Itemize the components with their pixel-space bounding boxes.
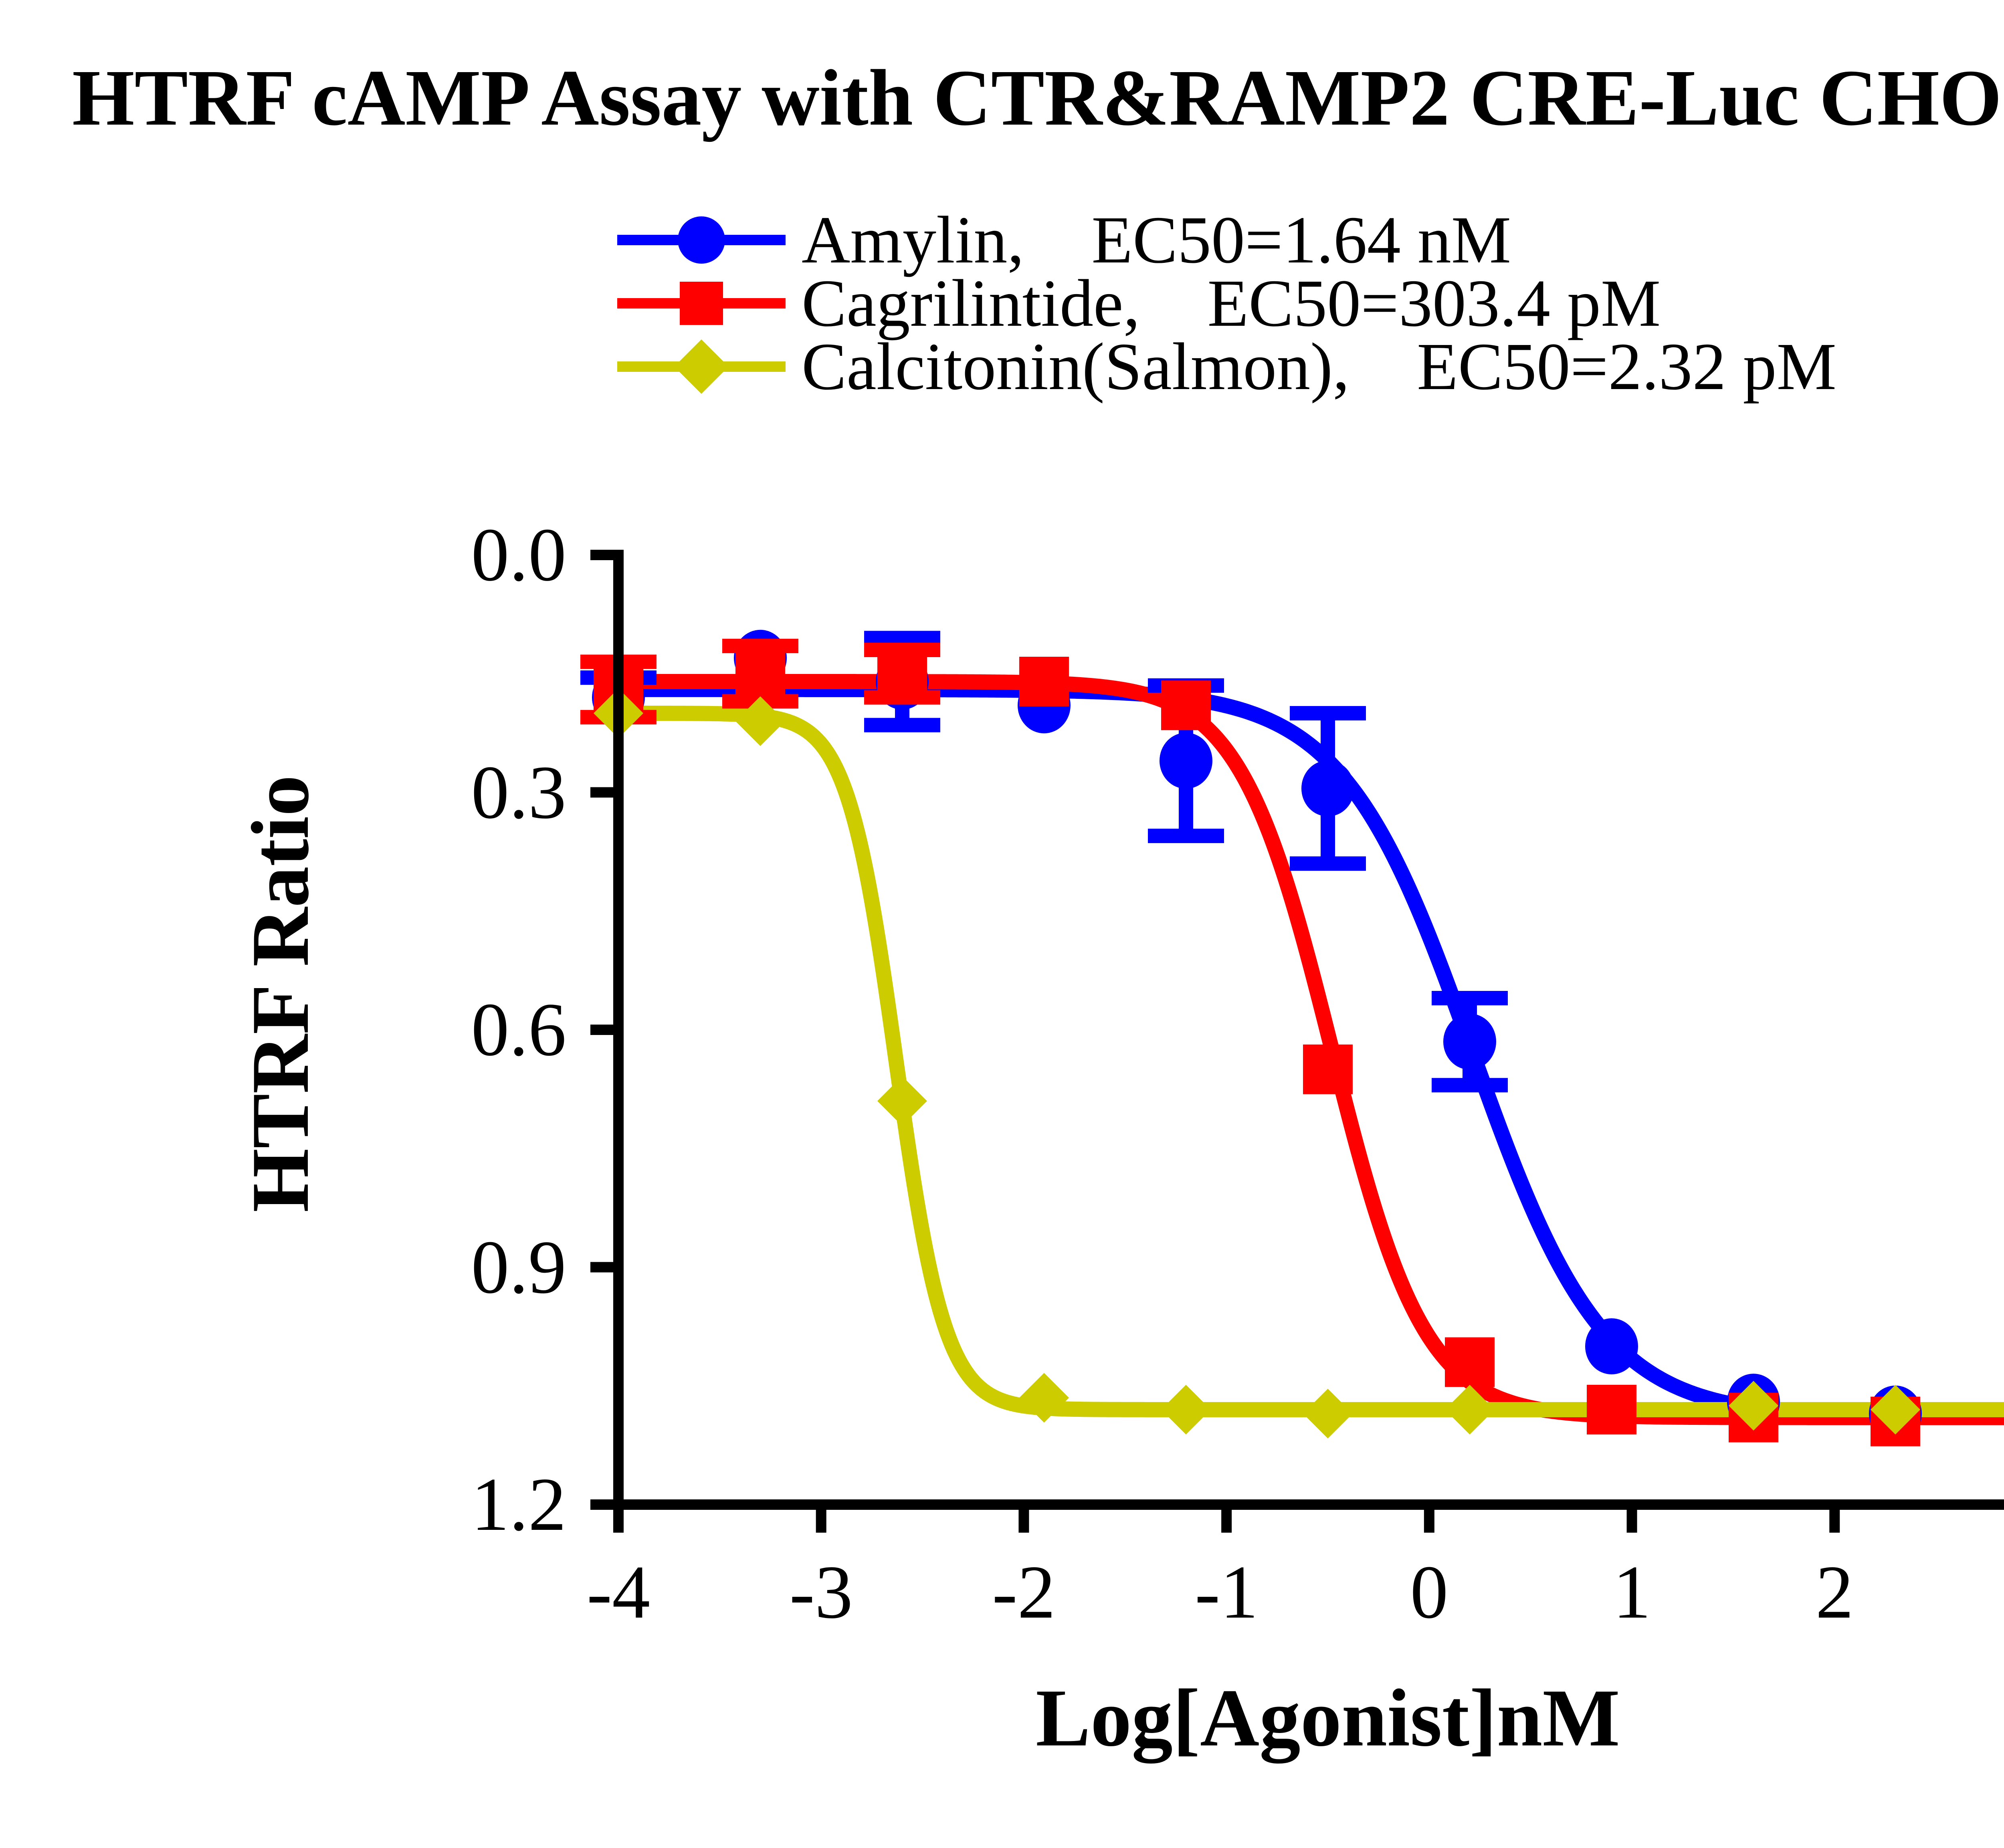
- x-axis-tick-label: -4: [587, 1549, 650, 1636]
- y-axis-tick-label: 0.3: [342, 749, 566, 836]
- data-point-cagrilintide[interactable]: [1587, 1385, 1636, 1434]
- y-axis-tick-label: 1.2: [342, 1461, 566, 1548]
- chart-figure: HTRF cAMP Assay with CTR&RAMP2 CRE-Luc C…: [0, 0, 2004, 1848]
- y-axis-tick-label: 0.9: [342, 1224, 566, 1311]
- x-axis-tick-label: 2: [1816, 1549, 1854, 1636]
- y-axis-tick-label: 0.6: [342, 986, 566, 1073]
- data-point-cagrilintide[interactable]: [877, 649, 927, 698]
- y-axis-title: HTRF Ratio: [233, 775, 328, 1212]
- plot-area: 1.20.90.60.30.0 -4-3-2-10123 Log[Agonist…: [0, 0, 2004, 1848]
- x-axis-tick-label: -1: [1195, 1549, 1258, 1636]
- x-axis-title: Log[Agonist]nM: [618, 1671, 2004, 1765]
- x-axis-tick-label: -3: [790, 1549, 853, 1636]
- x-axis-tick-label: 0: [1410, 1549, 1448, 1636]
- data-point-amylin[interactable]: [1301, 761, 1354, 817]
- data-point-cagrilintide[interactable]: [1161, 680, 1211, 730]
- data-point-cagrilintide[interactable]: [1019, 657, 1069, 706]
- data-point-cagrilintide[interactable]: [735, 649, 785, 698]
- data-point-calcitonin-salmon-[interactable]: [1303, 1389, 1353, 1438]
- x-axis-tick-label: 1: [1613, 1549, 1651, 1636]
- x-axis-tick-label: -2: [992, 1549, 1055, 1636]
- data-point-amylin[interactable]: [1160, 733, 1212, 789]
- data-point-amylin[interactable]: [1443, 1014, 1496, 1070]
- data-point-calcitonin-salmon-[interactable]: [877, 1076, 927, 1126]
- data-point-cagrilintide[interactable]: [1445, 1338, 1495, 1387]
- y-axis-tick-label: 0.0: [342, 511, 566, 599]
- data-point-amylin[interactable]: [1585, 1318, 1638, 1374]
- data-point-calcitonin-salmon-[interactable]: [1161, 1385, 1211, 1434]
- data-point-cagrilintide[interactable]: [1303, 1045, 1353, 1094]
